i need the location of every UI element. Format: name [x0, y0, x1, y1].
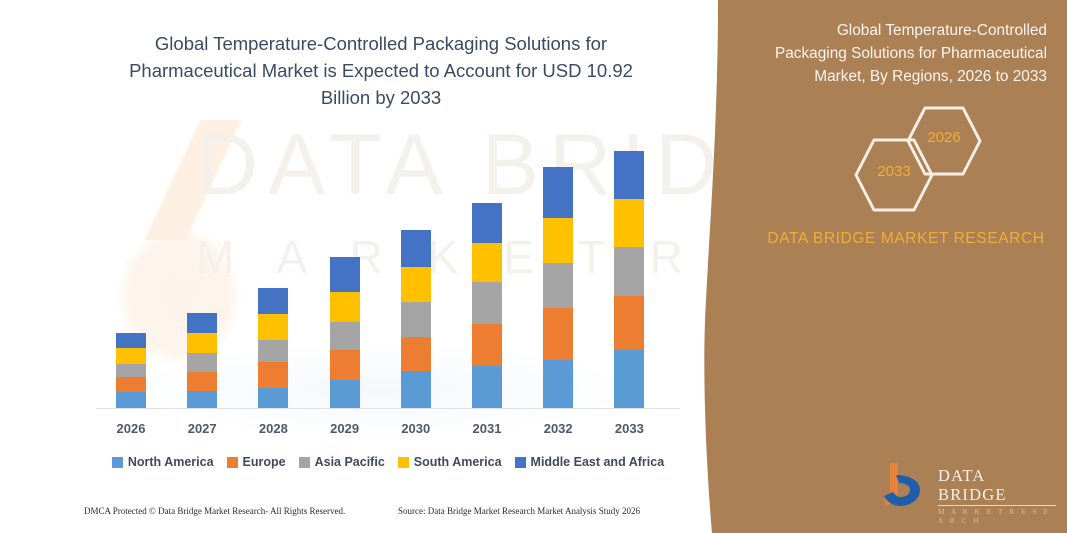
bar-segment — [401, 337, 431, 370]
bar-segment — [401, 230, 431, 267]
x-axis-label-2029: 2029 — [310, 421, 380, 436]
bar-segment — [330, 350, 360, 379]
x-axis-label-2028: 2028 — [238, 421, 308, 436]
bar-segment — [472, 282, 502, 323]
logo-name: DATA BRIDGE — [938, 466, 1058, 504]
data-bridge-logo: DATA BRIDGE M A R K E T R E S E A R C H — [880, 461, 1060, 511]
bar-segment — [258, 362, 288, 387]
bar-segment — [614, 350, 644, 408]
bar-segment — [543, 263, 573, 307]
bar-segment — [116, 392, 146, 408]
x-axis-label-2030: 2030 — [381, 421, 451, 436]
legend-label: North America — [128, 455, 214, 469]
hexagon-2033: 2033 — [853, 137, 935, 213]
legend-swatch — [398, 457, 409, 468]
bar-2029 — [330, 257, 360, 408]
x-axis-label-2033: 2033 — [594, 421, 664, 436]
legend-label: South America — [414, 455, 502, 469]
bar-2032 — [543, 167, 573, 408]
bar-segment — [116, 348, 146, 364]
legend-label: Asia Pacific — [315, 455, 385, 469]
legend-label: Middle East and Africa — [531, 455, 665, 469]
bar-segment — [543, 218, 573, 264]
bar-2033 — [614, 151, 644, 408]
bar-segment — [330, 257, 360, 292]
bar-2030 — [401, 230, 431, 408]
hexagon-2033-label: 2033 — [853, 163, 935, 180]
bar-segment — [401, 302, 431, 337]
bar-segment — [330, 292, 360, 323]
bar-segment — [401, 371, 431, 408]
legend-swatch — [515, 457, 526, 468]
bar-2028 — [258, 288, 288, 408]
bar-segment — [258, 388, 288, 408]
bar-segment — [543, 360, 573, 408]
chart-baseline — [96, 408, 680, 409]
bar-segment — [187, 313, 217, 333]
chart-legend: North AmericaEuropeAsia PacificSouth Ame… — [96, 455, 680, 469]
legend-item[interactable]: Europe — [227, 455, 286, 469]
logo-subtitle: M A R K E T R E S E A R C H — [938, 508, 1058, 526]
data-bridge-mark-icon — [880, 461, 934, 509]
x-axis-label-2027: 2027 — [167, 421, 237, 436]
right-panel-content: Global Temperature-Controlled Packaging … — [745, 0, 1067, 533]
bar-segment — [187, 353, 217, 372]
x-axis-label-2032: 2032 — [523, 421, 593, 436]
panel-title: Global Temperature-Controlled Packaging … — [765, 19, 1047, 88]
chart-title: Global Temperature-Controlled Packaging … — [110, 30, 652, 111]
bar-segment — [543, 308, 573, 360]
bar-segment — [543, 167, 573, 218]
hexagon-group: 2026 2033 — [801, 105, 1041, 200]
bar-segment — [614, 296, 644, 351]
bar-2027 — [187, 313, 217, 408]
bar-segment — [330, 322, 360, 350]
bar-segment — [258, 340, 288, 363]
legend-label: Europe — [243, 455, 286, 469]
legend-swatch — [112, 457, 123, 468]
bar-segment — [472, 203, 502, 243]
panel-brand: DATA BRIDGE MARKET RESEARCH — [761, 225, 1051, 252]
legend-item[interactable]: South America — [398, 455, 502, 469]
footer-source: Source: Data Bridge Market Research Mark… — [398, 506, 640, 516]
bar-segment — [472, 366, 502, 407]
bar-segment — [116, 377, 146, 392]
bar-segment — [187, 372, 217, 391]
legend-swatch — [299, 457, 310, 468]
legend-item[interactable]: Asia Pacific — [299, 455, 385, 469]
bar-segment — [614, 247, 644, 295]
x-axis-label-2026: 2026 — [96, 421, 166, 436]
bar-segment — [614, 151, 644, 199]
logo-wordmark: DATA BRIDGE M A R K E T R E S E A R C H — [938, 466, 1058, 526]
bar-segment — [187, 391, 217, 408]
bar-2026 — [116, 333, 146, 408]
bar-segment — [472, 324, 502, 367]
bar-segment — [258, 314, 288, 339]
legend-item[interactable]: North America — [112, 455, 214, 469]
bar-segment — [614, 199, 644, 247]
bar-segment — [472, 243, 502, 282]
footer-copyright: DMCA Protected © Data Bridge Market Rese… — [84, 506, 345, 516]
logo-divider — [938, 505, 1056, 506]
legend-item[interactable]: Middle East and Africa — [515, 455, 665, 469]
bar-segment — [116, 333, 146, 348]
bar-segment — [116, 364, 146, 377]
x-axis-label-2031: 2031 — [452, 421, 522, 436]
bar-segment — [187, 333, 217, 353]
bar-segment — [258, 288, 288, 315]
bar-segment — [330, 380, 360, 408]
bar-segment — [401, 267, 431, 302]
bar-2031 — [472, 203, 502, 408]
legend-swatch — [227, 457, 238, 468]
infographic-root: DATA BRIDGE M A R K E T R E S E A R C H … — [0, 0, 1067, 533]
